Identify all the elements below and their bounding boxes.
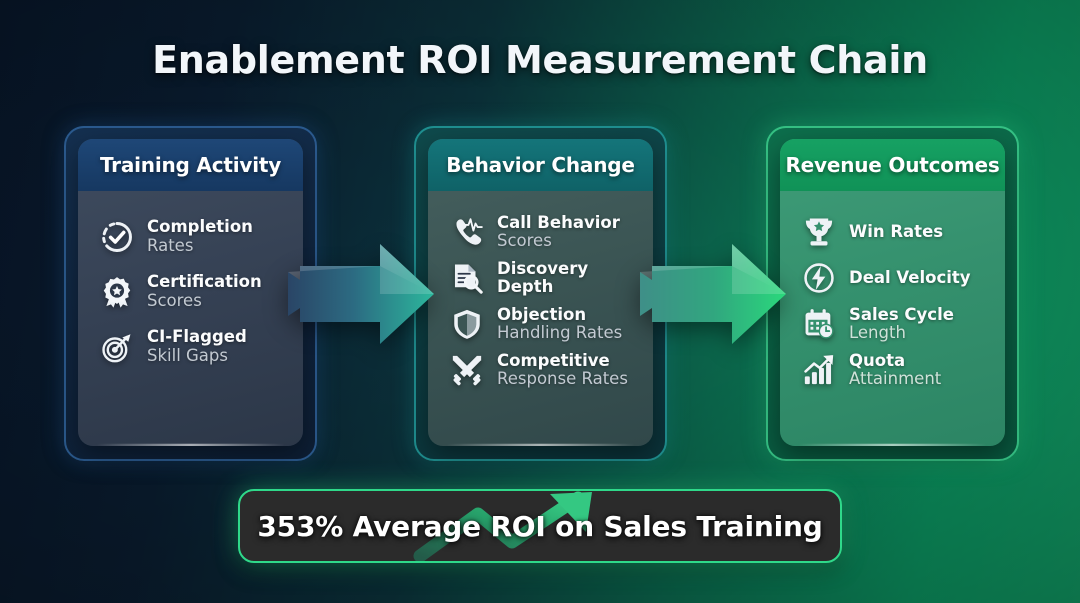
card-training-activity[interactable]: Training Activity Comple (64, 126, 317, 461)
list-item[interactable]: CI-Flagged Skill Gaps (78, 319, 303, 374)
list-item-label: Completion Rates (147, 218, 253, 255)
list-item-label: Sales Cycle Length (849, 306, 954, 343)
list-item[interactable]: Sales Cycle Length (780, 301, 1005, 347)
list-item-line2: Skill Gaps (147, 347, 247, 365)
list-item-line1: Call Behavior (497, 214, 620, 232)
list-item-label: Win Rates (849, 223, 943, 241)
lightning-bolt-icon (802, 261, 836, 295)
list-item[interactable]: Quota Attainment (780, 347, 1005, 393)
card-header-revenue-outcomes: Revenue Outcomes (780, 139, 1005, 191)
crossed-swords-icon (450, 353, 484, 387)
document-search-icon (450, 261, 484, 295)
list-item-label: Quota Attainment (849, 352, 941, 389)
bar-chart-up-icon (802, 353, 836, 387)
card-inner: Training Activity Comple (78, 139, 303, 446)
card-body: Win Rates Deal Velocity (780, 191, 1005, 446)
list-item-line1: Completion (147, 218, 253, 236)
list-item[interactable]: Objection Handling Rates (428, 301, 653, 347)
card-body: Completion Rates Certification Score (78, 191, 303, 446)
list-item-line1: Sales Cycle (849, 306, 954, 324)
list-item-label: Certification Scores (147, 273, 262, 310)
list-item-label: CI-Flagged Skill Gaps (147, 328, 247, 365)
shield-icon (450, 307, 484, 341)
list-item-label: Deal Velocity (849, 269, 971, 287)
card-revenue-outcomes[interactable]: Revenue Outcomes Win Rates (766, 126, 1019, 461)
list-item-line2: Length (849, 324, 954, 342)
list-item-line2: Response Rates (497, 370, 628, 388)
infographic-canvas: Enablement ROI Measurement Chain Trainin… (0, 0, 1080, 603)
list-item-line1: Quota (849, 352, 941, 370)
list-item[interactable]: Deal Velocity (780, 255, 1005, 301)
list-item-line1: Competitive (497, 352, 628, 370)
list-item-label: Discovery Depth (497, 260, 639, 297)
phone-pulse-icon (450, 215, 484, 249)
arrow-training-to-behavior (288, 238, 436, 350)
page-title: Enablement ROI Measurement Chain (0, 38, 1080, 82)
list-item-line1: Deal Velocity (849, 269, 971, 287)
list-item-line2: Scores (147, 292, 262, 310)
list-item-label: Call Behavior Scores (497, 214, 620, 251)
roi-banner[interactable]: 353% Average ROI on Sales Training (238, 489, 842, 563)
target-flag-icon (100, 330, 134, 364)
roi-banner-text: 353% Average ROI on Sales Training (257, 510, 822, 543)
list-item[interactable]: Win Rates (780, 209, 1005, 255)
list-item[interactable]: Call Behavior Scores (428, 209, 653, 255)
list-item-label: Objection Handling Rates (497, 306, 622, 343)
card-inner: Behavior Change Call Behavior Scores (428, 139, 653, 446)
list-item-line1: CI-Flagged (147, 328, 247, 346)
list-item-line1: Win Rates (849, 223, 943, 241)
list-item-label: Competitive Response Rates (497, 352, 628, 389)
arrow-behavior-to-revenue (640, 238, 788, 350)
list-item-line1: Discovery Depth (497, 260, 639, 297)
calendar-clock-icon (802, 307, 836, 341)
list-item-line1: Objection (497, 306, 622, 324)
list-item-line2: Scores (497, 232, 620, 250)
trophy-icon (802, 215, 836, 249)
card-body: Call Behavior Scores (428, 191, 653, 446)
card-header-training-activity: Training Activity (78, 139, 303, 191)
card-behavior-change[interactable]: Behavior Change Call Behavior Scores (414, 126, 667, 461)
list-item-line2: Rates (147, 237, 253, 255)
card-header-behavior-change: Behavior Change (428, 139, 653, 191)
list-item[interactable]: Competitive Response Rates (428, 347, 653, 393)
list-item[interactable]: Completion Rates (78, 209, 303, 264)
list-item[interactable]: Certification Scores (78, 264, 303, 319)
award-badge-icon (100, 275, 134, 309)
list-item-line1: Certification (147, 273, 262, 291)
list-item[interactable]: Discovery Depth (428, 255, 653, 301)
check-circle-icon (100, 220, 134, 254)
list-item-line2: Handling Rates (497, 324, 622, 342)
list-item-line2: Attainment (849, 370, 941, 388)
card-inner: Revenue Outcomes Win Rates (780, 139, 1005, 446)
